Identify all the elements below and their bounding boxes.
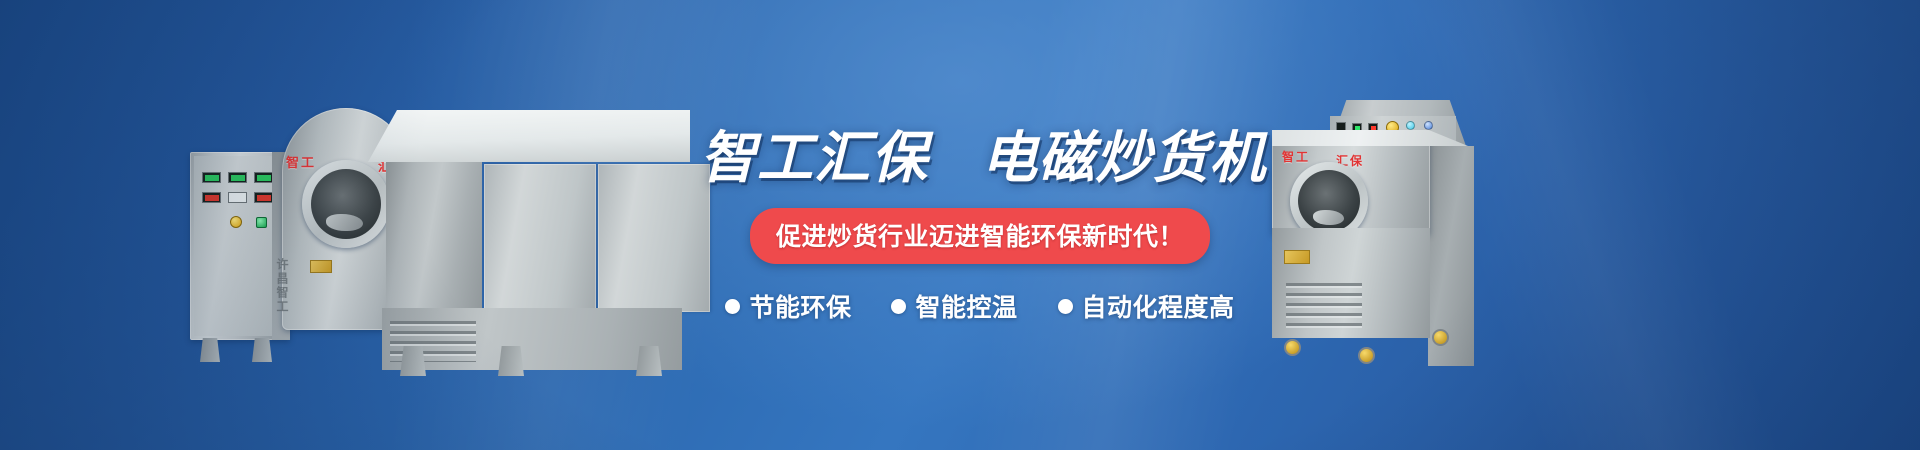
brand-mark-left: 智工 [1282, 148, 1310, 165]
tagline-badge: 促进炒货行业迈进智能环保新时代！ [750, 208, 1210, 264]
page-title: 智工汇保 电磁炒货机 [700, 128, 1260, 188]
nameplate-badge [310, 260, 332, 273]
feature-list: 节能环保 智能控温 自动化程度高 [700, 288, 1260, 324]
display-temp-3 [254, 172, 273, 183]
access-door-1 [484, 164, 596, 312]
ventilation-louvers [1286, 278, 1362, 328]
product-image-large-roaster: 智工 汇保 许昌智工 [190, 108, 710, 413]
bullet-dot-icon [891, 299, 906, 314]
bullet-dot-icon [725, 299, 740, 314]
machine-top-lid [368, 110, 690, 162]
caster-wheel-front-right [1358, 347, 1375, 364]
caster-wheel-rear [1432, 329, 1449, 346]
caster-wheel-front-left [1284, 339, 1301, 356]
display-power-1 [202, 192, 221, 203]
light-streak-right [1152, 0, 1920, 450]
feature-label: 节能环保 [749, 288, 851, 324]
cabinet-leg-left [200, 338, 220, 362]
brand-mark-left: 智工 [286, 152, 316, 171]
bullet-dot-icon [1058, 299, 1073, 314]
body-leg-right [636, 346, 662, 376]
feature-item-energy: 节能环保 [725, 288, 851, 324]
feature-label: 智能控温 [915, 288, 1017, 324]
display-temp-1 [202, 172, 221, 183]
body-front-panel [386, 162, 482, 330]
drum-opening [302, 160, 390, 248]
feature-item-automation: 自动化程度高 [1058, 288, 1235, 324]
feature-label: 自动化程度高 [1082, 288, 1235, 324]
display-power-2 [228, 192, 247, 203]
display-temp-2 [228, 172, 247, 183]
headline-product: 电磁炒货机 [981, 126, 1266, 189]
banner-copy: 智工汇保 电磁炒货机 促进炒货行业迈进智能环保新时代！ 节能环保 智能控温 自动… [700, 128, 1260, 324]
machine-body [386, 138, 686, 330]
hero-banner: 智工 汇保 许昌智工 智工汇保 电磁炒货机 促进炒货行业迈进智能环保新时代！ [0, 0, 1920, 450]
indicator-cyan-1 [1406, 121, 1415, 130]
access-door-2 [598, 164, 710, 312]
start-button-indicator [256, 217, 267, 228]
nameplate-badge [1284, 250, 1310, 264]
emergency-stop-knob [230, 216, 242, 228]
headline-brand: 智工汇保 [700, 126, 928, 189]
control-panel-face [194, 156, 274, 336]
display-power-3 [254, 192, 273, 203]
product-image-compact-roaster: 智工 汇保 [1272, 100, 1522, 350]
feature-item-temperature: 智能控温 [891, 288, 1017, 324]
body-leg-mid [498, 346, 524, 376]
body-leg-left [400, 346, 426, 376]
cabinet-leg-right [252, 338, 272, 362]
indicator-blue-1 [1424, 121, 1433, 130]
side-brand-text: 许昌智工 [274, 258, 291, 320]
